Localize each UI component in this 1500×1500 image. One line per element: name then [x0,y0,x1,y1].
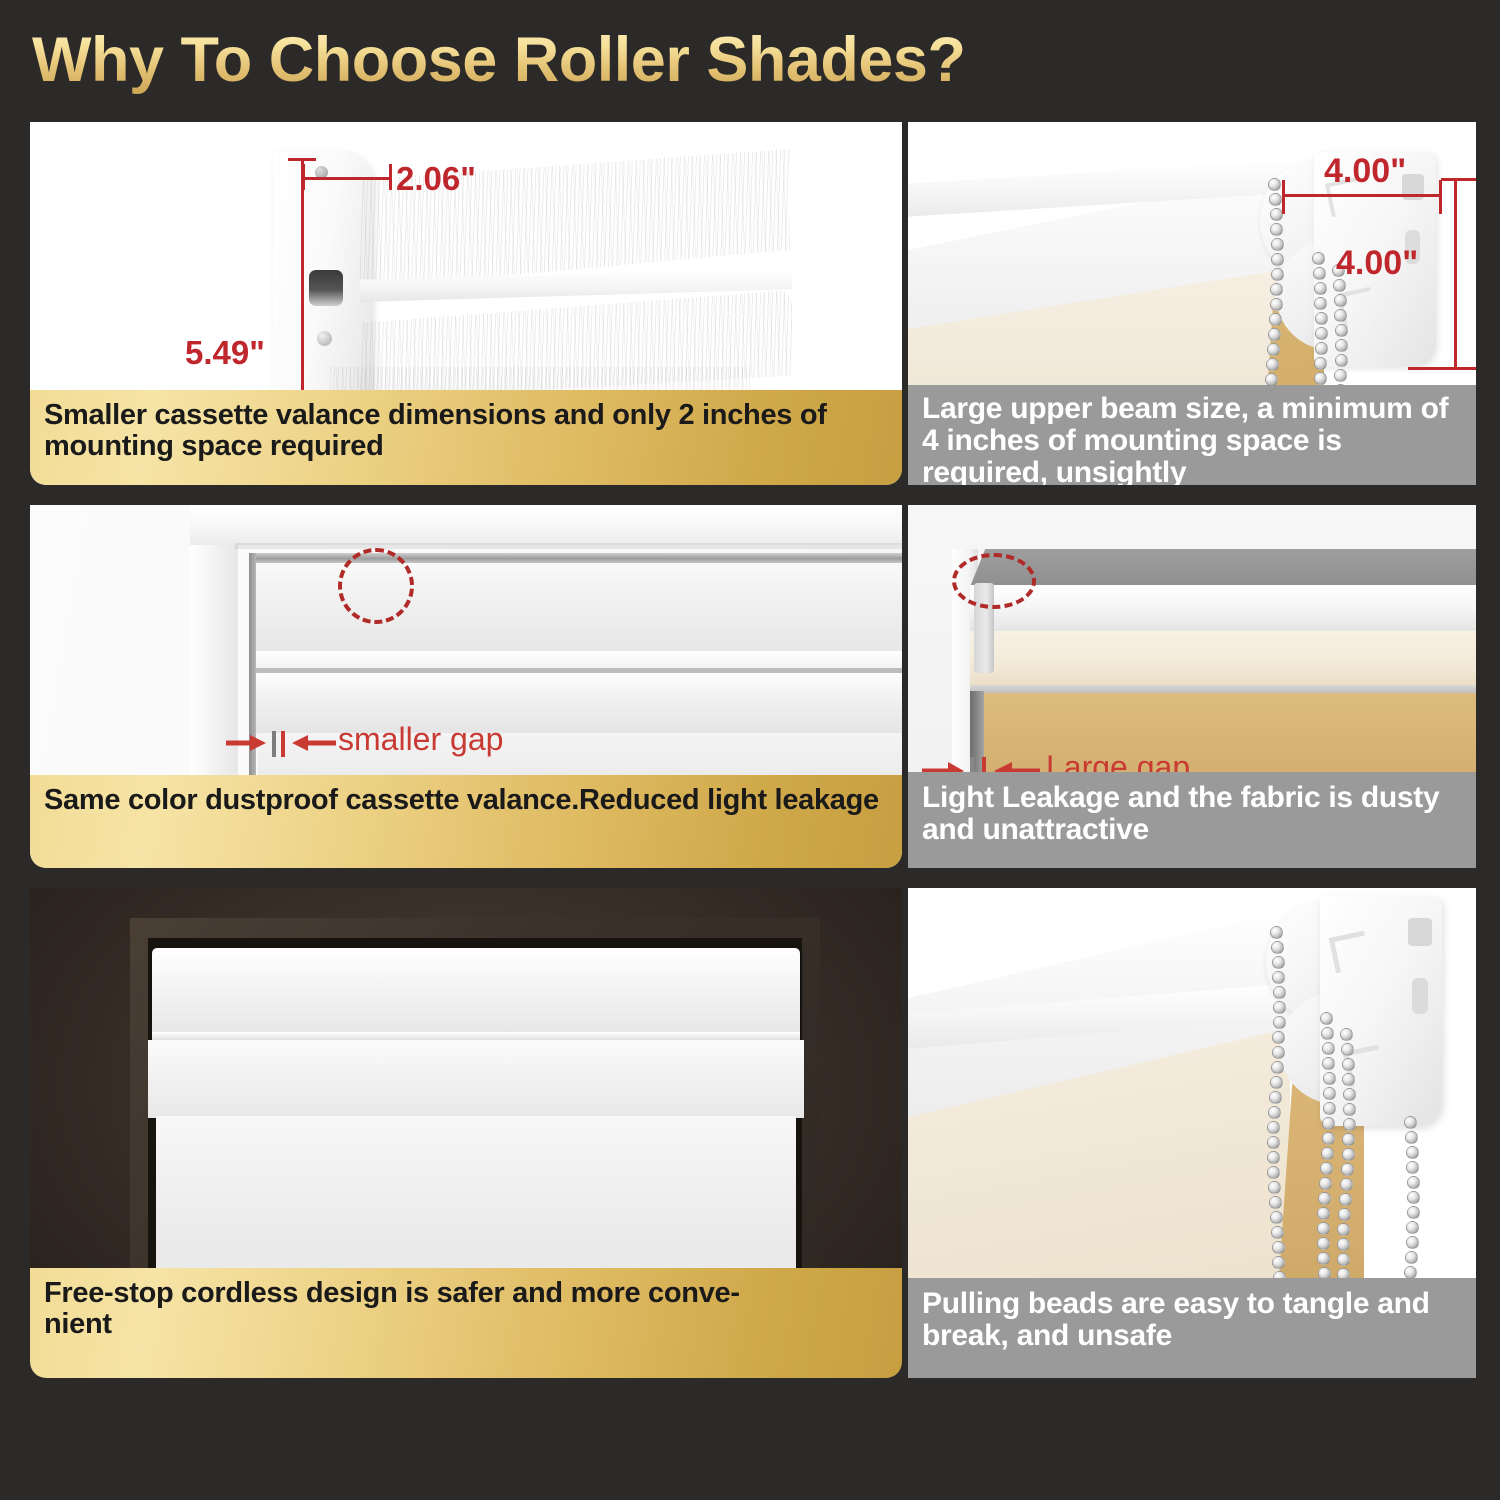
panel-top-left-image: 5.49" 2.06" [30,122,902,390]
bead [1322,1132,1335,1145]
bead [1269,1196,1282,1209]
bead [1406,1146,1419,1159]
upper-beam-face [970,585,1476,633]
bead [1312,252,1325,265]
bead [1335,324,1348,337]
bead [1320,1012,1333,1025]
casing-shadow [235,543,902,549]
bead [1334,309,1347,322]
bracket-logo-upper [1329,931,1372,974]
bead [1270,283,1283,296]
bead [1271,253,1284,266]
bead [1343,1118,1356,1131]
bead [1407,1176,1420,1189]
bead [1322,1042,1335,1055]
bead [1322,1057,1335,1070]
bead [1268,328,1281,341]
bead [1270,208,1283,221]
bead [1270,298,1283,311]
bead [1343,1088,1356,1101]
smaller-gap-label: smaller gap [338,721,503,758]
bead [1407,1191,1420,1204]
bead [1323,1072,1336,1085]
bead [1315,342,1328,355]
height-dimension-label: 5.49" [185,334,265,372]
bead [1269,1091,1282,1104]
bead [1267,1121,1280,1134]
bead [1315,327,1328,340]
infographic-root: Why To Choose Roller Shades? [0,0,1500,1500]
bead [1406,1236,1419,1249]
bead [1338,1208,1351,1221]
valance-lip-divider [252,651,902,669]
bead [1272,1241,1285,1254]
bead [1272,956,1285,969]
bead [1404,1116,1417,1129]
bead [1273,1001,1286,1014]
bracket-width-line [1282,194,1442,197]
bead [1341,1163,1354,1176]
window-casing-top [190,505,902,545]
bead [1315,312,1328,325]
bead [1271,238,1284,251]
bead [1268,1106,1281,1119]
panel-mid-left-image: smaller gap [30,505,902,775]
height-dimension-line [301,158,304,390]
bead [1269,313,1282,326]
bead [1270,1076,1283,1089]
bead [1267,1151,1280,1164]
bead [1342,1133,1355,1146]
shade-cassette [152,948,800,1033]
bead [1321,1147,1334,1160]
bead [1317,1207,1330,1220]
shade-fabric [330,367,750,390]
bead [1270,926,1283,939]
panel-bottom-left: Free-stop cordless design is safer and m… [30,888,902,1378]
panel-mid-left-caption: Same color dustproof cassette valance.Re… [30,775,902,868]
highlight-circle [952,553,1036,609]
bead [1273,1016,1286,1029]
bead [1267,1136,1280,1149]
bead [1272,971,1285,984]
bead [1272,1046,1285,1059]
bead [1317,1222,1330,1235]
bead [1270,223,1283,236]
bead [1406,1161,1419,1174]
panel-top-left: 5.49" 2.06" Smaller cassette valance dim… [30,122,902,485]
caption-line-1: Free-stop cordless design is safer and m… [44,1278,888,1309]
panel-mid-right-caption: Light Leakage and the fabric is dusty an… [908,772,1476,868]
bead [1313,267,1326,280]
bead [1271,1226,1284,1239]
bead [1341,1043,1354,1056]
width-dimension-tick-left [302,164,305,190]
panel-top-right: 4.00" 4.00" Large upper beam size, a min… [908,122,1476,485]
width-dimension-label: 2.06" [396,160,476,198]
bead [1337,1223,1350,1236]
bead [1322,1117,1335,1130]
bead [1320,1162,1333,1175]
valance-cream [970,631,1476,689]
bracket-height-tick-bottom [1408,367,1476,370]
bead [1340,1178,1353,1191]
bead [1270,1211,1283,1224]
bead [1342,1058,1355,1071]
bracket-height-line [1454,178,1457,370]
panel-bottom-right: Pulling beads are easy to tangle and bre… [908,888,1476,1378]
bead [1318,1192,1331,1205]
bead [1268,178,1281,191]
bead [1405,1251,1418,1264]
page-title: Why To Choose Roller Shades? [32,20,1132,100]
bracket-width-tick-right [1439,180,1442,214]
width-dimension-line [302,177,392,180]
bead [1266,358,1279,371]
roller-band [148,1040,804,1118]
valance-bracket-slot [309,270,343,306]
bracket-width-tick-left [1282,180,1285,214]
bead [1339,1193,1352,1206]
bead [1267,343,1280,356]
panel-bottom-right-caption: Pulling beads are easy to tangle and bre… [908,1278,1476,1378]
panel-top-right-caption: Large upper beam size, a minimum of 4 in… [908,385,1476,485]
bead [1271,1061,1284,1074]
bead [1323,1102,1336,1115]
bracket-height-label: 4.00" [1336,244,1418,283]
bead [1334,294,1347,307]
bead [1406,1221,1419,1234]
bead [1337,1253,1350,1266]
bead [1314,297,1327,310]
bead [1271,268,1284,281]
bead [1337,1238,1350,1251]
bead [1271,941,1284,954]
bead [1314,372,1327,385]
panel-mid-left: smaller gap Same color dustproof cassett… [30,505,902,868]
bead [1272,1256,1285,1269]
height-dimension-tick-top [288,158,316,161]
panel-bottom-left-caption: Free-stop cordless design is safer and m… [30,1268,902,1378]
bead [1323,1087,1336,1100]
panel-top-left-caption: Smaller cassette valance dimensions and … [30,390,902,485]
bead [1273,986,1286,999]
bead [1314,357,1327,370]
width-dimension-tick-right [389,164,392,190]
bead [1405,1131,1418,1144]
bracket-notch-2 [1412,978,1428,1014]
caption-line-2: nient [44,1309,888,1340]
bead [1407,1206,1420,1219]
bead [1342,1148,1355,1161]
bead [1319,1177,1332,1190]
bead [1334,369,1347,382]
bead [1272,1031,1285,1044]
bead [1268,1181,1281,1194]
bead [1342,1073,1355,1086]
bead [1314,282,1327,295]
bracket-width-label: 4.00" [1324,152,1406,191]
panel-mid-right: Large gap Light Leakage and the fabric i… [908,505,1476,868]
bead [1340,1028,1353,1041]
bead [1335,354,1348,367]
bracket-notch-1 [1408,918,1432,946]
bead [1317,1237,1330,1250]
bracket-height-tick-top [1441,178,1476,181]
bead [1269,193,1282,206]
valance-screw-upper [317,331,332,346]
bead [1267,1166,1280,1179]
bead [1321,1027,1334,1040]
bead [1343,1103,1356,1116]
upper-beam-top [970,549,1476,587]
highlight-circle [338,548,414,624]
bead [1335,339,1348,352]
bead [1317,1252,1330,1265]
